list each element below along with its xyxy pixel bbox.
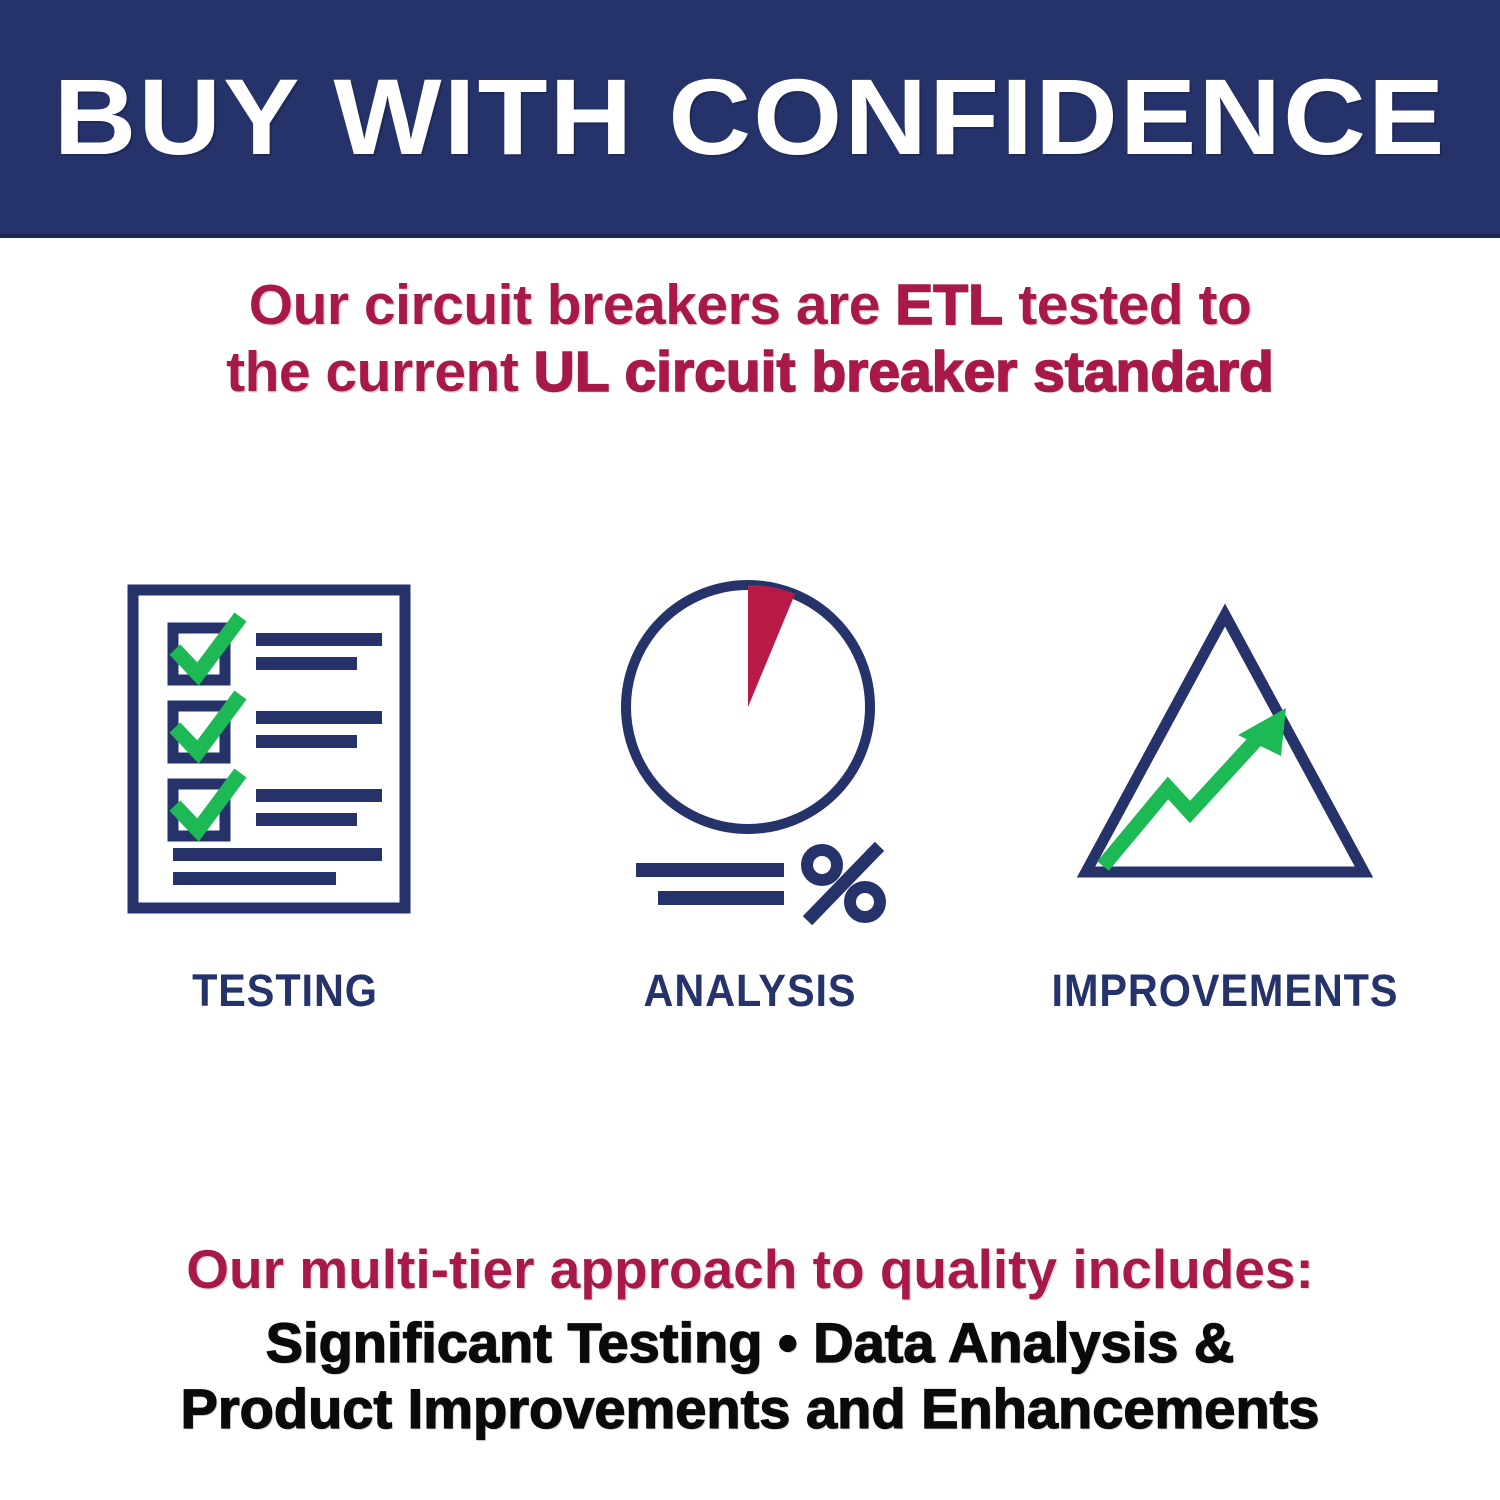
checklist-clipboard-icon: [60, 560, 510, 920]
subtitle-line2-part1: the current: [226, 340, 534, 404]
subtitle-line1-part1: Our circuit breakers are: [249, 273, 896, 337]
bottom-text-block: Our multi-tier approach to quality inclu…: [0, 1238, 1500, 1442]
icon-cell-improvements: IMPROVEMENTS: [1000, 560, 1450, 1060]
icon-label-analysis: ANALYSIS: [575, 965, 925, 1017]
bottom-body-text: Significant Testing • Data Analysis & Pr…: [0, 1310, 1500, 1442]
triangle-growth-arrow-icon: [1000, 560, 1450, 920]
subtitle-ul-emphasis: UL circuit breaker standard: [534, 340, 1274, 404]
header-banner: BUY WITH CONFIDENCE: [0, 0, 1500, 238]
bottom-lead-text: Our multi-tier approach to quality inclu…: [0, 1238, 1500, 1302]
subtitle-block: Our circuit breakers are ETL tested to t…: [0, 272, 1500, 405]
icon-label-testing: TESTING: [78, 965, 492, 1017]
icon-cell-analysis: ANALYSIS: [560, 560, 940, 1060]
subtitle-line1-part2: tested to: [1003, 273, 1251, 337]
pie-chart-percent-icon: [560, 560, 940, 920]
icon-label-improvements: IMPROVEMENTS: [1018, 965, 1432, 1017]
bottom-body-line-1: Significant Testing • Data Analysis &: [0, 1310, 1500, 1376]
icon-cell-testing: TESTING: [60, 560, 510, 1060]
bottom-body-line-2: Product Improvements and Enhancements: [0, 1376, 1500, 1442]
subtitle-etl-emphasis: ETL: [895, 273, 1003, 337]
subtitle-line-1: Our circuit breakers are ETL tested to: [0, 272, 1500, 339]
page-title: BUY WITH CONFIDENCE: [54, 63, 1447, 171]
subtitle-line-2: the current UL circuit breaker standard: [0, 339, 1500, 406]
icon-row: TESTING ANALYSIS: [0, 560, 1500, 1060]
